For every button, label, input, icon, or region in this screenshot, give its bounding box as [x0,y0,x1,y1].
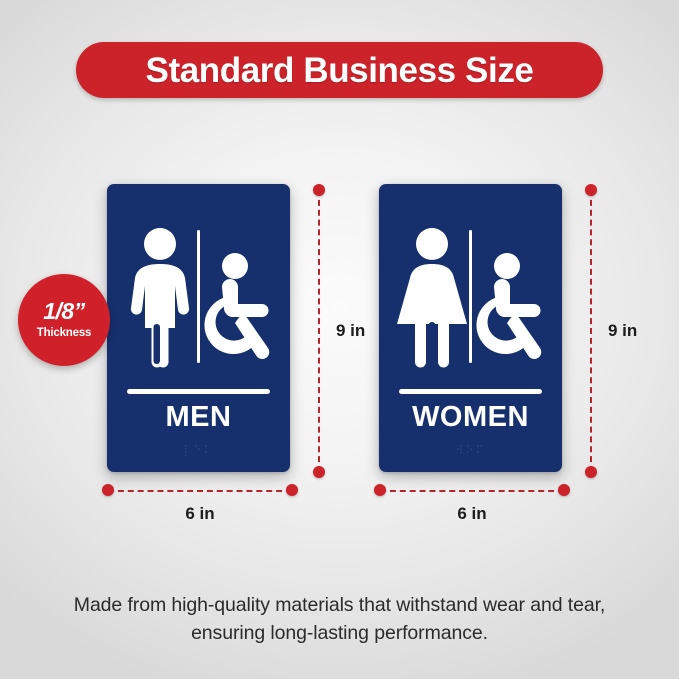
pictogram-row-women [379,224,562,369]
sign-divider-women [469,230,472,363]
woman-figure-icon [393,224,471,369]
dimension-endpoint-dot [558,484,570,496]
wheelchair-accessible-icon [202,224,280,369]
sign-plate-men: MEN ⡇⠑⠅ [107,184,290,472]
thickness-label: Thickness [37,328,91,340]
thickness-value: 1/8” [43,300,84,323]
thickness-badge: 1/8” Thickness [18,274,110,366]
dimension-line [318,190,320,472]
infographic-canvas: Standard Business Size 1/8” Thickness [0,0,679,679]
width-dimension-men: 6 in [108,490,292,491]
sign-label-women: WOMEN [379,402,562,434]
dimension-endpoint-dot [313,466,325,478]
height-dimension-label-men: 9 in [336,321,365,341]
braille-text-women: ⠺⠕⠍ [379,446,562,457]
dimension-endpoint-dot [102,484,114,496]
sign-rule-men [127,389,270,394]
sign-divider-men [197,230,200,363]
width-dimension-label-men: 6 in [108,504,292,524]
braille-text-men: ⡇⠑⠅ [107,446,290,457]
dimension-endpoint-dot [585,466,597,478]
dimension-endpoint-dot [286,484,298,496]
wheelchair-accessible-icon [474,224,552,369]
sign-rule-women [399,389,542,394]
sign-label-men: MEN [107,402,290,434]
dimension-endpoint-dot [374,484,386,496]
height-dimension-women: 9 in [590,190,591,472]
dimension-line [380,490,564,492]
dimension-line [590,190,592,472]
man-figure-icon [121,224,199,369]
title-banner: Standard Business Size [76,42,603,98]
width-dimension-women: 6 in [380,490,564,491]
height-dimension-men: 9 in [318,190,319,472]
dimension-endpoint-dot [313,184,325,196]
pictogram-row-men [107,224,290,369]
height-dimension-label-women: 9 in [608,321,637,341]
sign-plate-women: WOMEN ⠺⠕⠍ [379,184,562,472]
dimension-endpoint-dot [585,184,597,196]
dimension-line [108,490,292,492]
page-title: Standard Business Size [146,53,534,88]
caption-text: Made from high-quality materials that wi… [60,592,619,647]
width-dimension-label-women: 6 in [380,504,564,524]
